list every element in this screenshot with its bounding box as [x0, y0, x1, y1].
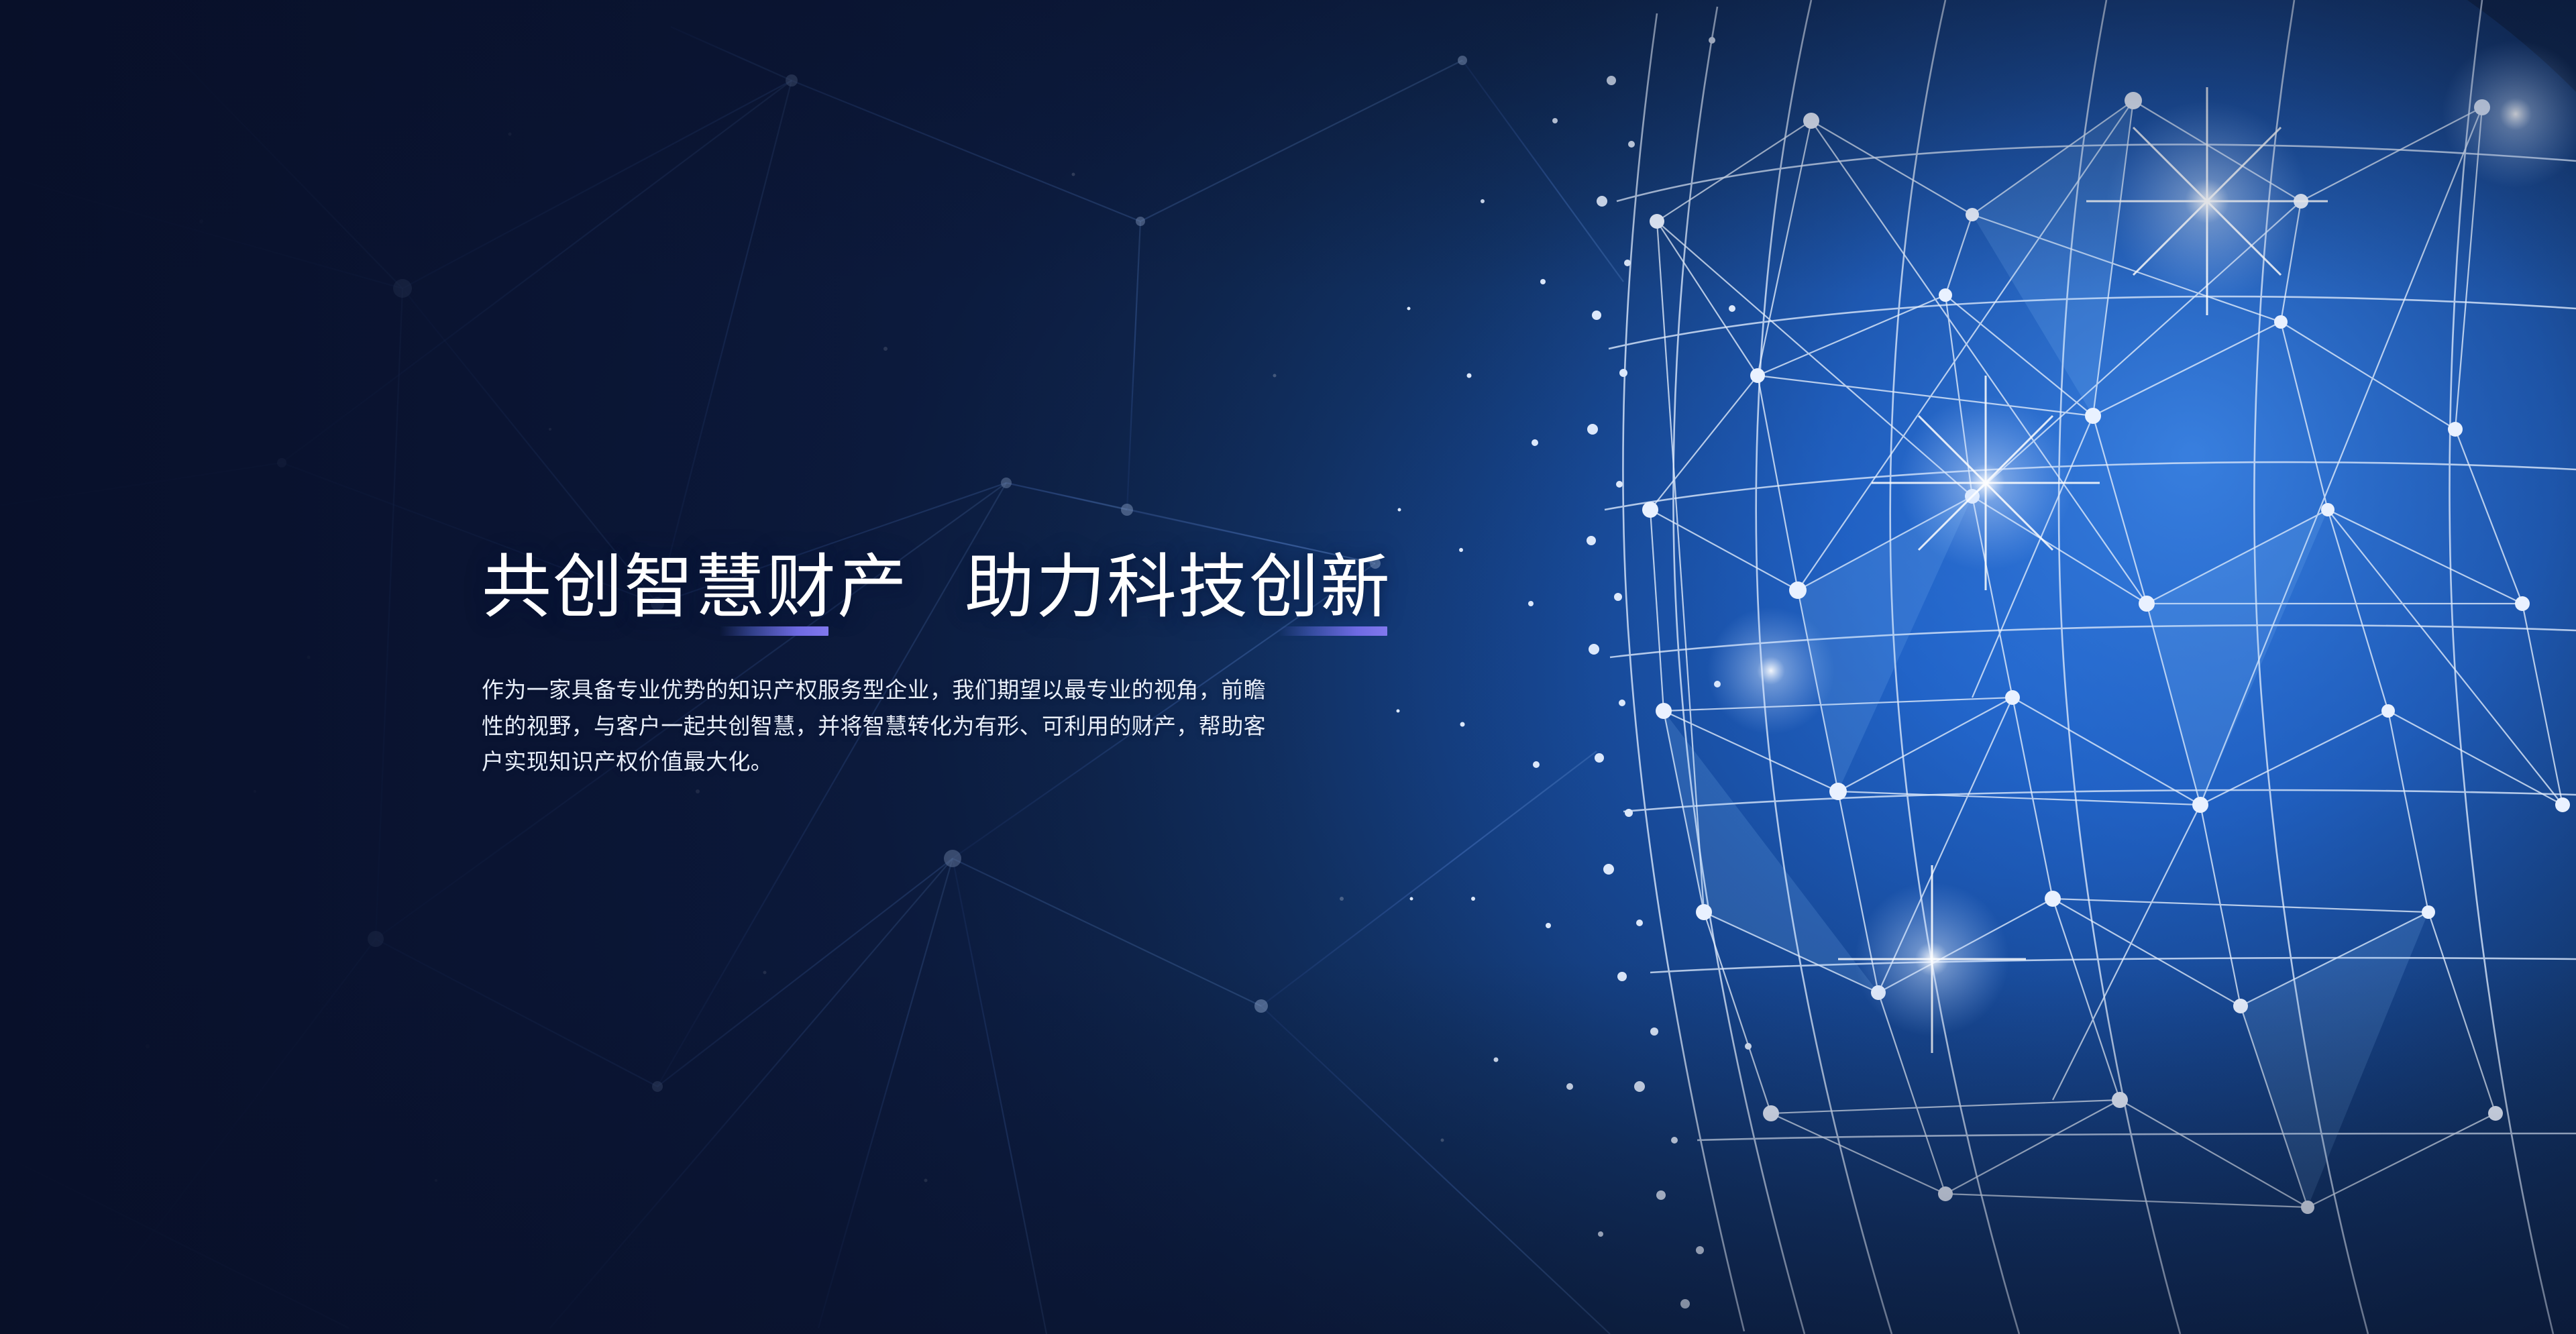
description-line-3: 户实现知识产权价值最大化。 — [482, 744, 1421, 779]
headline-part-1: 共创智慧财产 — [482, 549, 908, 626]
page-title: 共创智慧财产助力科技创新 — [482, 549, 1434, 626]
description-line-1: 作为一家具备专业优势的知识产权服务型企业，我们期望以最专业的视角，前瞻 — [482, 672, 1421, 708]
headline-part-2: 助力科技创新 — [965, 549, 1391, 626]
banner-description: 作为一家具备专业优势的知识产权服务型企业，我们期望以最专业的视角，前瞻 性的视野… — [482, 672, 1421, 779]
description-line-2: 性的视野，与客户一起共创智慧，并将智慧转化为有形、可利用的财产，帮助客 — [482, 708, 1421, 744]
underline-accent-2 — [1279, 626, 1387, 636]
banner-content: 共创智慧财产助力科技创新 作为一家具备专业优势的知识产权服务型企业，我们期望以最… — [482, 549, 1434, 780]
banner-stage: 共创智慧财产助力科技创新 作为一家具备专业优势的知识产权服务型企业，我们期望以最… — [0, 0, 2576, 1334]
underline-accent-1 — [720, 626, 828, 636]
